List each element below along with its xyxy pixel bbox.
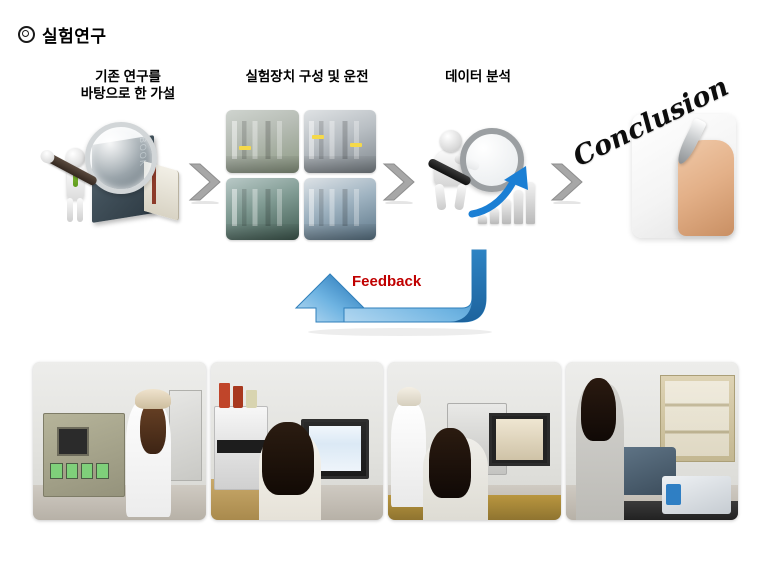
trend-up-arrow-icon [468, 164, 534, 225]
panel-meters [50, 463, 109, 479]
computer-monitor [489, 413, 550, 466]
figure-legs [66, 198, 85, 224]
step-1-hypothesis-illustration [40, 112, 190, 244]
researcher-cap [135, 389, 171, 410]
step-2-apparatus-photo-grid [226, 110, 376, 240]
analyst-leg-left [434, 184, 446, 211]
step-4-conclusion-illustration: Conclusion [586, 112, 756, 247]
seated-researcher-hair [429, 428, 470, 498]
sample-preparation-device [662, 476, 731, 514]
apparatus-thumb-1 [226, 110, 299, 173]
step-3-data-analysis-illustration [412, 112, 562, 242]
analyst-leg-right [454, 183, 467, 210]
feedback-label: Feedback [352, 273, 421, 290]
apparatus-thumb-2 [304, 110, 377, 173]
hplc-analysis-photo [211, 362, 384, 520]
researcher-hair [581, 378, 616, 441]
feedback-loop-arrow [274, 248, 510, 340]
bench-sample-preparation-photo [566, 362, 739, 520]
chevron-right-icon [188, 160, 222, 204]
researcher-hair [262, 422, 314, 495]
standing-researcher-figure [391, 403, 426, 507]
instrument-measurement-photo [388, 362, 561, 520]
apparatus-thumb-4 [304, 178, 377, 241]
chevron-right-icon [382, 160, 416, 204]
process-flow-row: 기존 연구를 바탕으로 한 가설 실험장치 구성 및 운전 데이터 분석 [0, 0, 768, 345]
step-1-label: 기존 연구를 바탕으로 한 가설 [48, 68, 208, 102]
panel-screen [57, 427, 89, 456]
standing-researcher-cap [397, 387, 421, 406]
magnifier-icon [85, 122, 157, 194]
photo-strip [33, 362, 738, 520]
step-3-label: 데이터 분석 [408, 68, 548, 85]
solvent-bottles [219, 383, 257, 408]
control-panel-operation-photo [33, 362, 206, 520]
apparatus-thumb-3 [226, 178, 299, 241]
analyst-head [440, 130, 462, 152]
equipment-rack [169, 390, 202, 480]
step-2-label: 실험장치 구성 및 운전 [222, 68, 392, 85]
